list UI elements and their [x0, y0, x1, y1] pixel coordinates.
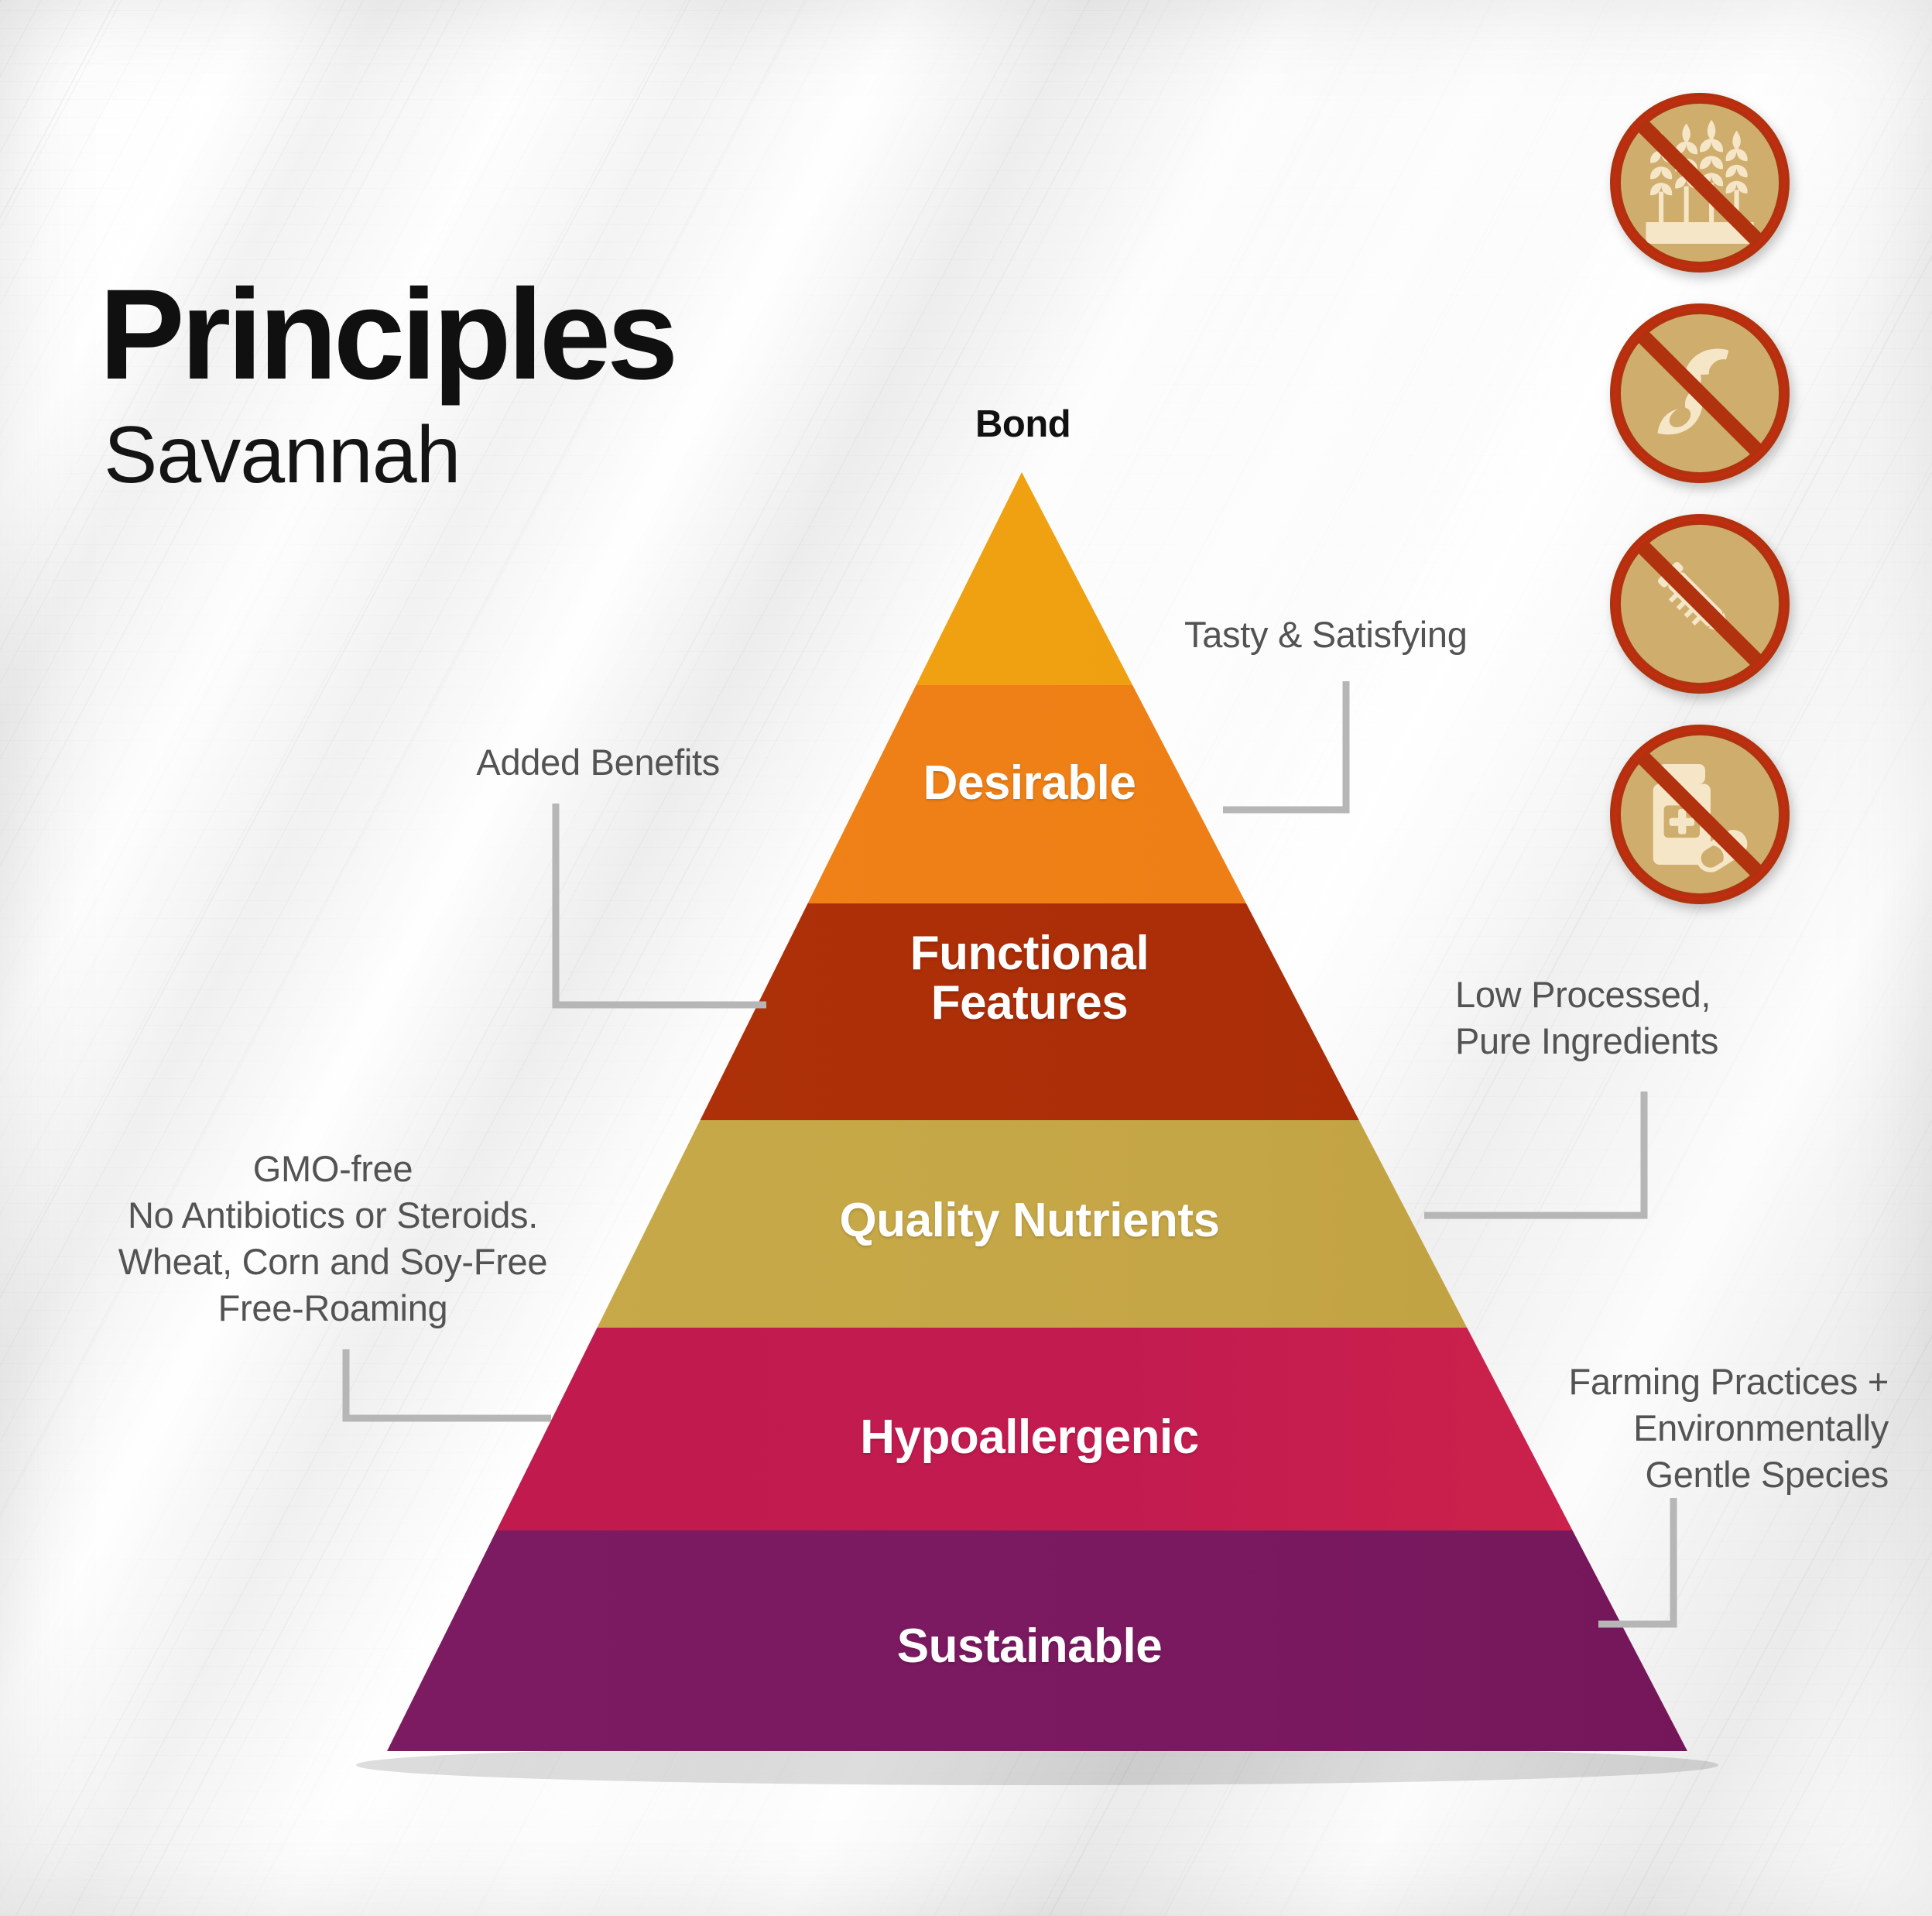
annotation-added-benefits: Added Benefits	[255, 739, 720, 786]
annotation-gmo-block: GMO-free No Antibiotics or Steroids. Whe…	[70, 1146, 596, 1332]
annotation-farming: Farming Practices + Environmentally Gent…	[1471, 1359, 1889, 1498]
annotation-gmo-line2: No Antibiotics or Steroids.	[70, 1192, 596, 1239]
annotation-gmo-line1: GMO-free	[70, 1146, 596, 1192]
badge-no-meds	[1610, 725, 1790, 904]
annotation-low-processed-line1: Low Processed,	[1455, 972, 1858, 1018]
annotation-gmo-line4: Free-Roaming	[70, 1285, 596, 1332]
prohibition-badges	[1610, 93, 1811, 935]
badge-no-syringe	[1610, 514, 1790, 694]
title-block: Principles Savannah	[99, 271, 674, 498]
annotation-farming-line1: Farming Practices +	[1471, 1359, 1889, 1405]
badge-no-grain	[1610, 93, 1790, 272]
annotation-tasty: Tasty & Satisfying	[1184, 612, 1618, 658]
annotation-farming-line2: Environmentally	[1471, 1405, 1889, 1452]
annotation-low-processed: Low Processed, Pure Ingredients	[1455, 972, 1858, 1064]
page-title: Principles	[99, 271, 674, 399]
annotation-farming-line3: Gentle Species	[1471, 1452, 1889, 1498]
badge-no-gmo	[1610, 303, 1790, 483]
annotation-low-processed-line2: Pure Ingredients	[1455, 1018, 1858, 1064]
page-subtitle: Savannah	[104, 413, 674, 498]
annotation-gmo-line3: Wheat, Corn and Soy-Free	[70, 1239, 596, 1285]
